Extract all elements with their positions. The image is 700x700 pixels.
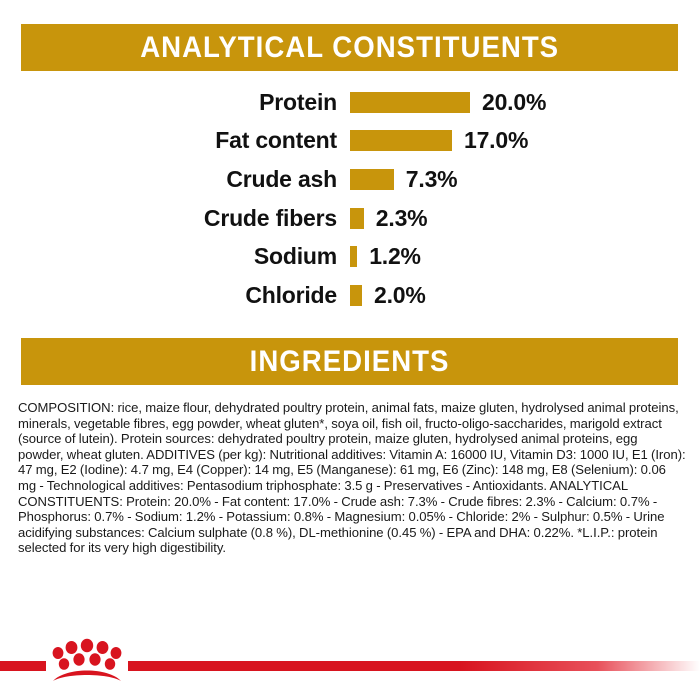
analytical-constituents-title: ANALYTICAL CONSTITUENTS xyxy=(140,33,559,63)
analytical-constituents-chart: Protein20.0%Fat content17.0%Crude ash7.3… xyxy=(0,83,700,315)
chart-value-label: 1.2% xyxy=(369,245,421,268)
footer xyxy=(0,608,700,700)
chart-bar xyxy=(350,285,362,306)
chart-value-label: 2.3% xyxy=(376,207,428,230)
chart-bar-wrapper: 2.3% xyxy=(350,199,427,238)
chart-value-label: 20.0% xyxy=(482,91,546,114)
chart-bar xyxy=(350,208,364,229)
chart-bar-wrapper: 2.0% xyxy=(350,276,426,315)
chart-value-label: 2.0% xyxy=(374,284,426,307)
chart-row: Sodium1.2% xyxy=(0,237,700,276)
ingredients-header: INGREDIENTS xyxy=(21,338,678,385)
chart-bar-wrapper: 20.0% xyxy=(350,83,546,122)
chart-row-label: Crude fibers xyxy=(0,207,337,230)
royal-canin-crown-icon xyxy=(48,638,126,684)
chart-row-label: Crude ash xyxy=(0,168,337,191)
chart-row: Crude ash7.3% xyxy=(0,160,700,199)
chart-bar xyxy=(350,92,470,113)
product-info-page: ANALYTICAL CONSTITUENTS Protein20.0%Fat … xyxy=(0,0,700,700)
chart-bar xyxy=(350,169,394,190)
chart-row: Fat content17.0% xyxy=(0,122,700,161)
chart-bar xyxy=(350,130,452,151)
chart-value-label: 17.0% xyxy=(464,129,528,152)
analytical-constituents-header: ANALYTICAL CONSTITUENTS xyxy=(21,24,678,71)
chart-row: Protein20.0% xyxy=(0,83,700,122)
chart-row-label: Fat content xyxy=(0,129,337,152)
footer-rule-left xyxy=(0,661,46,671)
ingredients-title: INGREDIENTS xyxy=(250,347,450,377)
chart-bar-wrapper: 1.2% xyxy=(350,237,421,276)
chart-row-label: Chloride xyxy=(0,284,337,307)
composition-text: COMPOSITION: rice, maize flour, dehydrat… xyxy=(18,400,686,556)
chart-bar-wrapper: 7.3% xyxy=(350,160,457,199)
chart-row-label: Protein xyxy=(0,91,337,114)
chart-bar-wrapper: 17.0% xyxy=(350,122,528,161)
chart-row-label: Sodium xyxy=(0,245,337,268)
footer-rule-right xyxy=(128,661,700,671)
chart-row: Chloride2.0% xyxy=(0,276,700,315)
chart-row: Crude fibers2.3% xyxy=(0,199,700,238)
chart-value-label: 7.3% xyxy=(406,168,458,191)
chart-bar xyxy=(350,246,357,267)
